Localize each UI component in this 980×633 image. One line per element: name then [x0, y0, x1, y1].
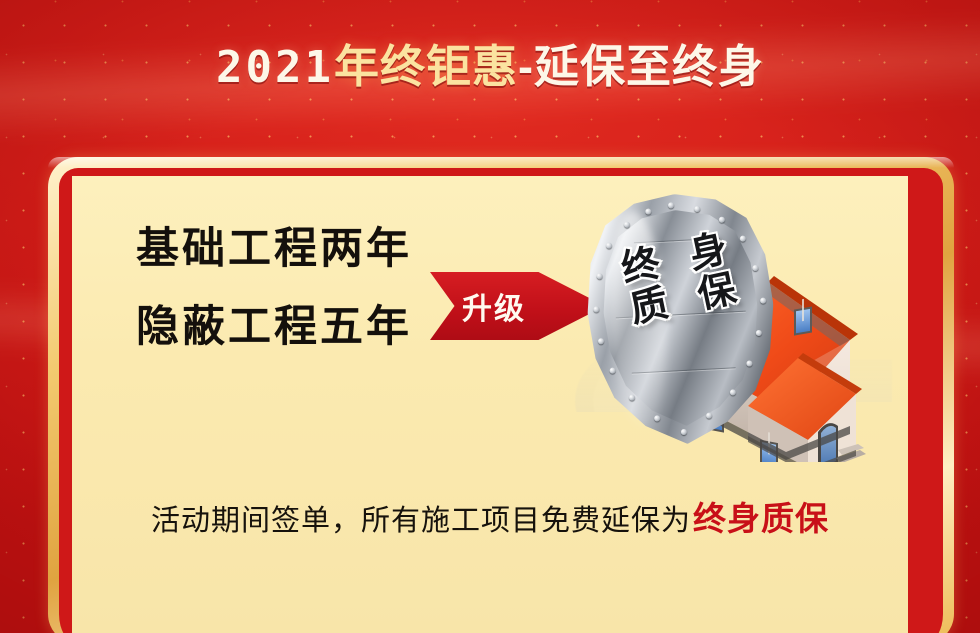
caption-accent-text: 终身质保 — [693, 500, 829, 537]
warranty-shield: 终 身 质 保 — [582, 189, 781, 448]
gold-frame-sheen — [48, 157, 954, 168]
shield-house-illustration: 终 身 质 保 — [570, 194, 908, 614]
upgrade-arrow-label: 升级 — [462, 284, 526, 328]
caption-main-text: 活动期间签单，所有施工项目免费延保为 — [151, 505, 691, 537]
promo-banner: 2021年终钜惠-延保至终身 基础工程两年 隐蔽工程五年 升级 — [0, 0, 980, 633]
title-gold-segment: 年终钜惠 — [334, 44, 518, 89]
headline-block: 基础工程两年 隐蔽工程五年 — [136, 228, 412, 349]
title-white-segment: -延保至终身 — [518, 44, 764, 89]
banner-title: 2021年终钜惠-延保至终身 — [0, 44, 980, 90]
caption-block: 活动期间签单，所有施工项目免费延保为终身质保 — [72, 492, 908, 540]
title-year: 2021 — [216, 46, 334, 90]
headline-line-1: 基础工程两年 — [136, 228, 412, 271]
content-card: 基础工程两年 隐蔽工程五年 升级 — [72, 176, 908, 633]
headline-line-2: 隐蔽工程五年 — [136, 306, 412, 349]
